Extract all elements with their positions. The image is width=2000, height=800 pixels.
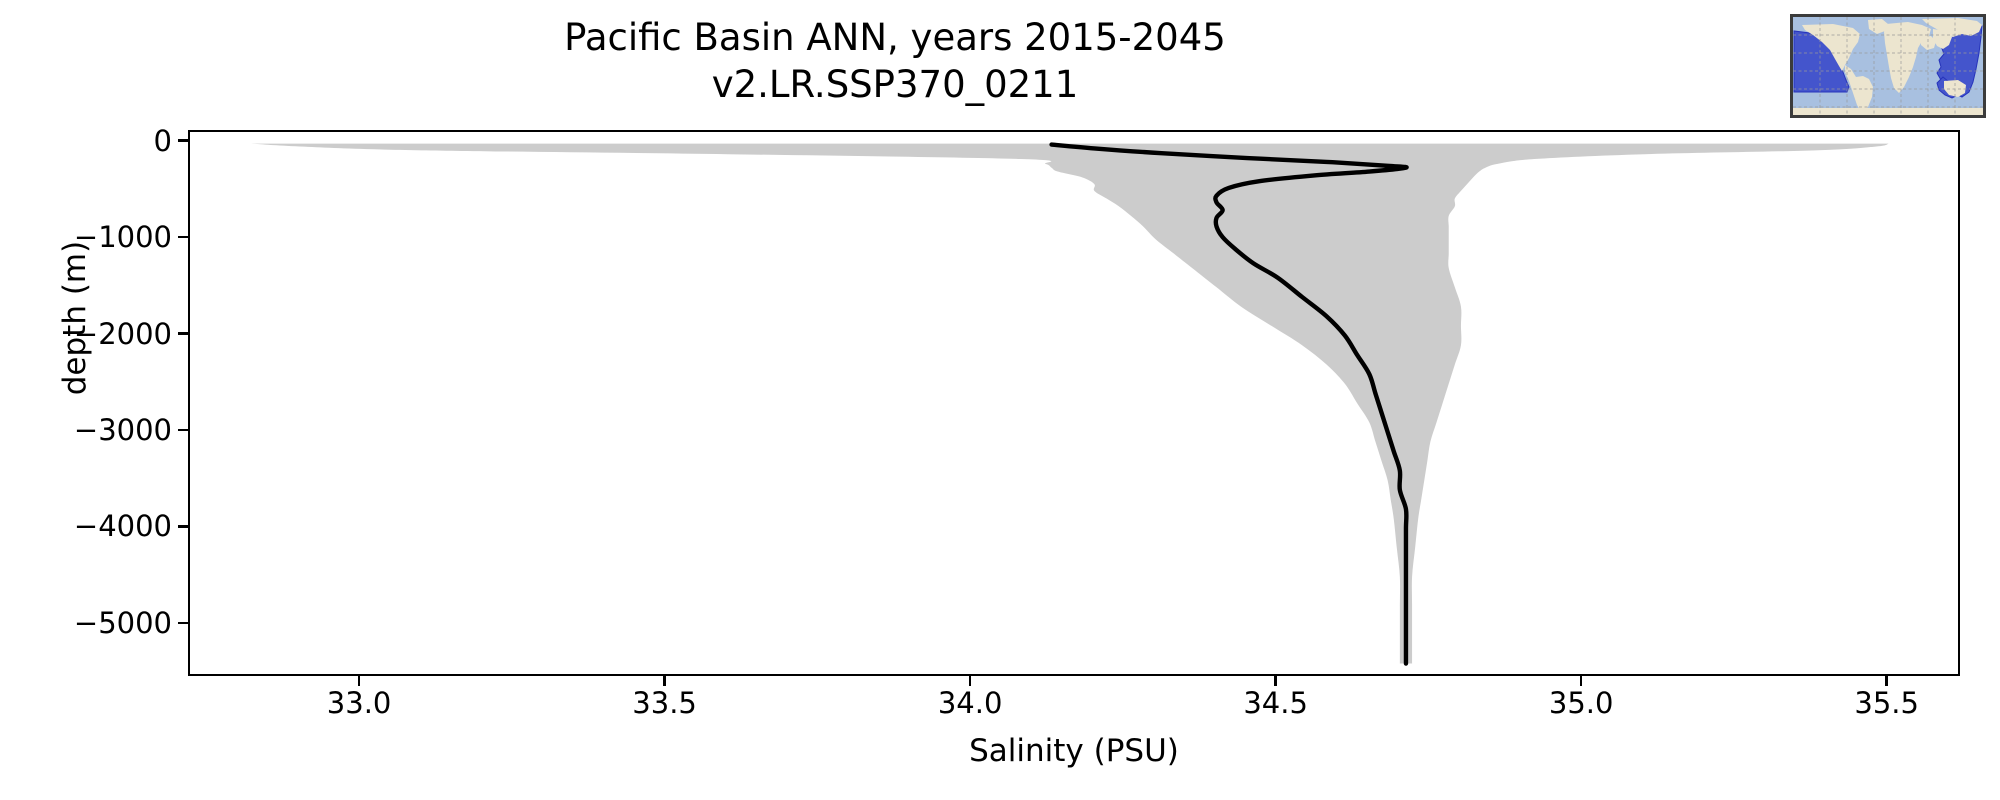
x-axis-tick-mark xyxy=(663,676,665,686)
x-axis-tick-label: 34.0 xyxy=(938,686,1003,720)
figure-subtitle: v2.LR.SSP370_0211 xyxy=(0,61,1790,108)
y-axis-tick-mark xyxy=(178,139,188,141)
page-title: Pacific Basin ANN, years 2015-2045 xyxy=(0,14,1790,61)
x-axis-tick-label: 35.0 xyxy=(1549,686,1614,720)
y-axis-tick-label: 0 xyxy=(154,124,172,158)
y-axis-tick-label: −5000 xyxy=(74,606,172,640)
y-axis-tick-label: −4000 xyxy=(74,509,172,543)
x-axis-tick-label: 35.5 xyxy=(1854,686,1919,720)
pacific-basin-locator-map xyxy=(1790,14,1986,118)
y-axis-tick-mark xyxy=(178,236,188,238)
figure-title-block: Pacific Basin ANN, years 2015-2045 v2.LR… xyxy=(0,14,1790,109)
world-map-svg xyxy=(1793,17,1983,115)
x-axis-label: Salinity (PSU) xyxy=(188,733,1960,769)
uncertainty-band xyxy=(251,144,1889,664)
y-axis-tick-mark xyxy=(178,429,188,431)
profile-plot-svg xyxy=(190,132,1960,676)
x-axis-tick-label: 33.5 xyxy=(632,686,697,720)
y-axis-tick-layer: 0−1000−2000−3000−4000−5000 xyxy=(0,0,172,800)
y-axis-tick-mark xyxy=(178,622,188,624)
x-axis-tick-label: 34.5 xyxy=(1243,686,1308,720)
y-axis-tick-label: −3000 xyxy=(74,413,172,447)
x-axis-tick-label: 33.0 xyxy=(327,686,392,720)
y-axis-tick-label: −1000 xyxy=(74,220,172,254)
y-axis-tick-label: −2000 xyxy=(74,317,172,351)
x-axis-tick-mark xyxy=(969,676,971,686)
x-axis-tick-mark xyxy=(1885,676,1887,686)
y-axis-tick-mark xyxy=(178,332,188,334)
plot-area xyxy=(188,130,1960,676)
y-axis-tick-mark xyxy=(178,525,188,527)
x-axis-tick-mark xyxy=(1580,676,1582,686)
x-axis-tick-mark xyxy=(1274,676,1276,686)
x-axis-tick-mark xyxy=(358,676,360,686)
salinity-depth-profile-figure: Pacific Basin ANN, years 2015-2045 v2.LR… xyxy=(0,0,2000,800)
